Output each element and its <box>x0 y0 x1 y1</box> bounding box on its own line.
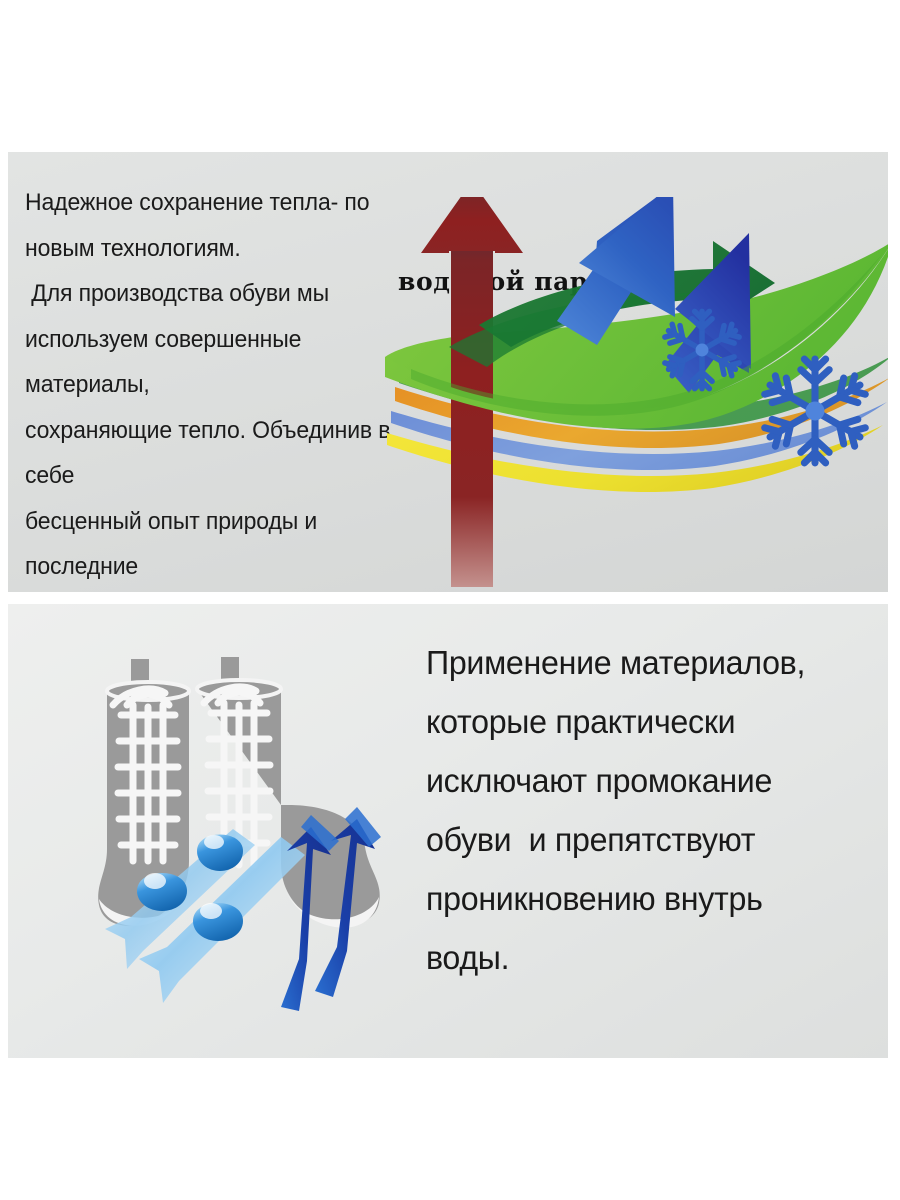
snowflake-icon <box>656 304 748 396</box>
thermal-insulation-panel: Надежное сохранение тепла- по новым техн… <box>8 152 888 592</box>
waterproofing-panel: Применение материалов, которые практичес… <box>8 604 888 1058</box>
boots-water-repellent-illustration <box>93 629 413 1029</box>
snowflake-icon <box>756 352 874 470</box>
thermal-description-text: Надежное сохранение тепла- по новым техн… <box>25 180 401 592</box>
waterproofing-description-text: Применение материалов, которые практичес… <box>426 634 848 988</box>
